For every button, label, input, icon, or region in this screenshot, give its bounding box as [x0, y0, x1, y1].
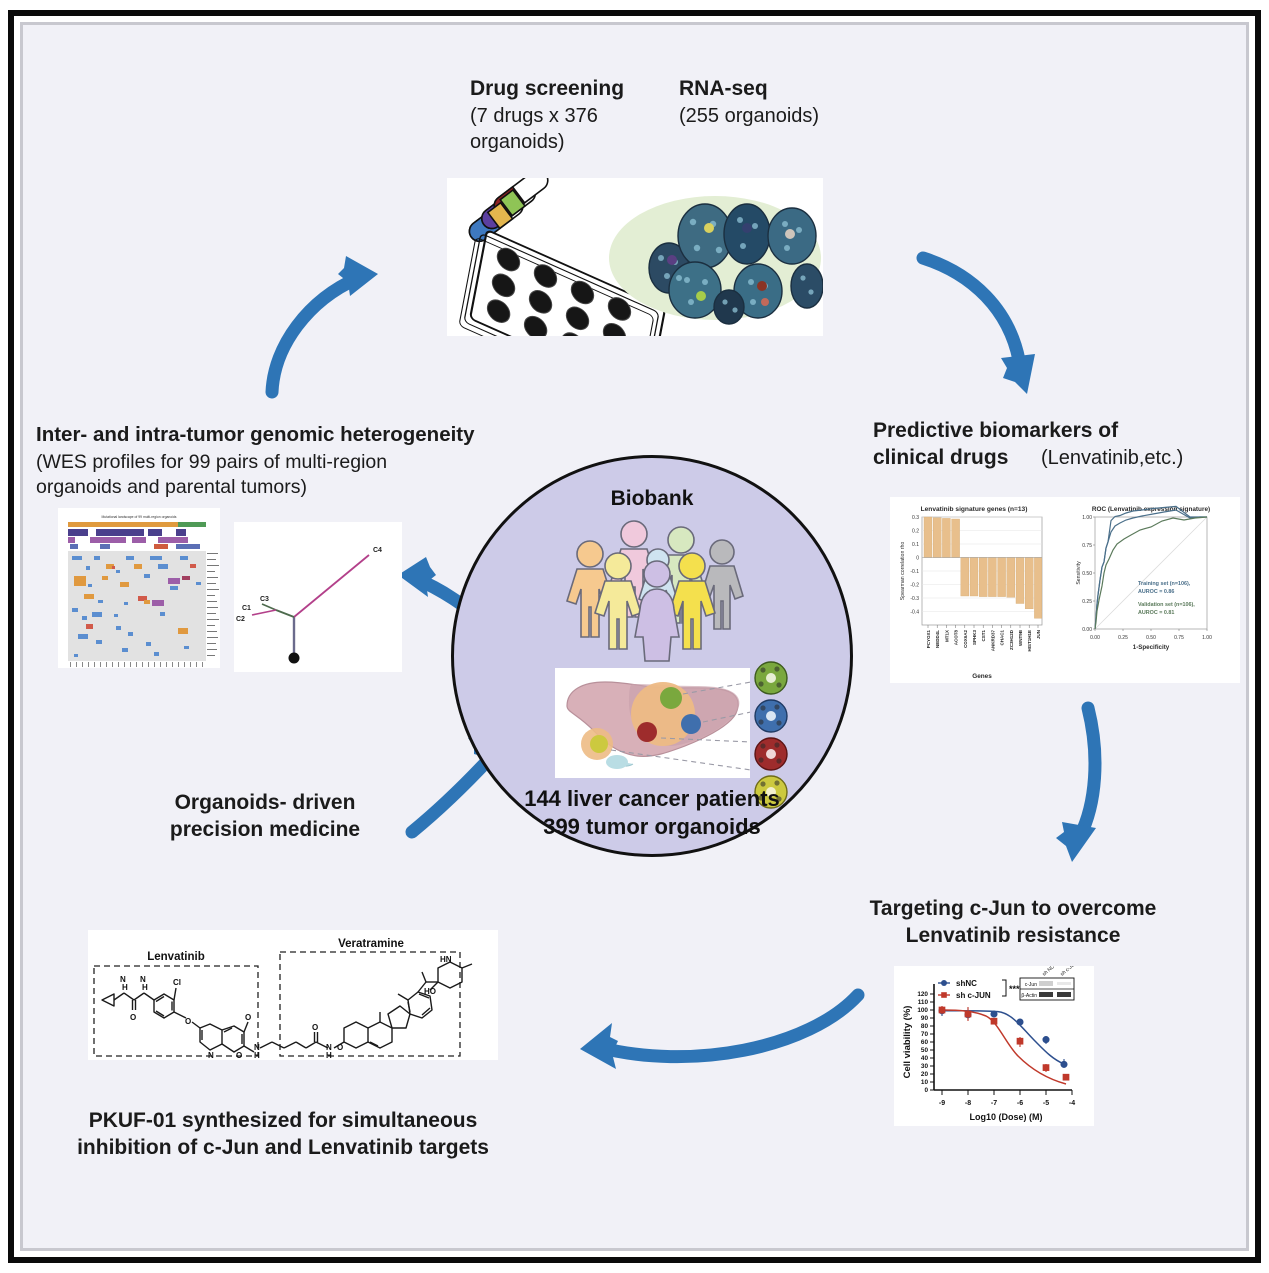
roc-annotation-training-line1: Training set (n=106),: [1138, 581, 1191, 587]
rnaseq-subtitle: (255 organoids): [679, 104, 899, 130]
svg-text:1.00: 1.00: [1202, 635, 1212, 641]
biomarker-charts-panel: Lenvatinib signature genes (n=13) 0.30.2…: [890, 497, 1240, 683]
arrow-to-drug-screening: [250, 250, 390, 400]
svg-text:30: 30: [921, 1063, 929, 1070]
gene-label: COX6A2: [963, 630, 968, 649]
svg-text:0.75: 0.75: [1082, 543, 1092, 549]
dose-response-chart: 01020 304050 607080 90100110 120 -9 -8 -…: [894, 966, 1094, 1126]
svg-text:0: 0: [924, 1087, 928, 1094]
biomarker-charts: Lenvatinib signature genes (n=13) 0.30.2…: [890, 497, 1240, 683]
dose-response-panel: 01020 304050 607080 90100110 120 -9 -8 -…: [894, 966, 1094, 1126]
phylo-node-c1: C1: [242, 605, 251, 612]
atom-ho: HO: [424, 987, 436, 996]
biobank-caption: 144 liver cancer patients 399 tumor orga…: [441, 785, 863, 840]
blot-row-actin: β-Actin: [1021, 993, 1037, 999]
atom-hn: HN: [440, 955, 452, 964]
blot-row-cjun: c-Jun: [1025, 982, 1037, 988]
svg-text:0.00: 0.00: [1090, 635, 1100, 641]
atom-o: O: [337, 1043, 343, 1052]
svg-text:60: 60: [921, 1039, 929, 1046]
veratramine-label: Veratramine: [338, 938, 404, 950]
atom-o: O: [236, 1051, 242, 1060]
gene-label: HIST1H1E: [1027, 630, 1032, 652]
biobank-title: Biobank: [451, 487, 853, 511]
heterogeneity-title: Inter- and intra-tumor genomic heterogen…: [36, 422, 556, 448]
phylo-node-c4: C4: [373, 547, 382, 554]
gene-label: WNT9B: [1018, 629, 1023, 646]
roc-chart-xlabel: 1-Specificity: [1133, 644, 1170, 651]
gene-label: ANKRD37: [990, 630, 995, 652]
svg-text:100: 100: [917, 1007, 928, 1014]
roc-annotation-validation-line1: Validation set (n=106),: [1138, 602, 1195, 608]
arrow-to-pkuf01: [540, 975, 880, 1085]
atom-h: H: [122, 983, 128, 992]
atom-h: H: [142, 983, 148, 992]
drug-screening-title: Drug screening: [470, 76, 690, 103]
atom-o: O: [312, 1023, 318, 1032]
svg-text:0.1: 0.1: [912, 542, 919, 548]
gene-label: JUN: [1036, 630, 1041, 639]
phylo-node-c2: C2: [236, 616, 245, 623]
liver-illustration: [555, 668, 750, 778]
svg-text:-0.4: -0.4: [910, 610, 919, 616]
legend-shcjun: sh c-JUN: [956, 991, 991, 1000]
phylo-node-c3: C3: [260, 596, 269, 603]
svg-text:0.25: 0.25: [1082, 599, 1092, 605]
roc-chart-title: ROC (Lenvatinib expression signature): [1092, 506, 1210, 513]
dose-ylabel: Cell viability (%): [902, 1006, 913, 1079]
svg-text:0.25: 0.25: [1118, 635, 1128, 641]
svg-text:-0.1: -0.1: [910, 569, 919, 575]
atom-cl: Cl: [173, 978, 181, 987]
x-tick: -4: [1069, 1100, 1075, 1107]
svg-text:-0.3: -0.3: [910, 596, 919, 602]
atom-n: N: [140, 975, 146, 984]
svg-text:1.00: 1.00: [1082, 515, 1092, 521]
pkuf01-chemical-structure: Lenvatinib Veratramine: [88, 930, 498, 1060]
gene-label: NEDD4L: [935, 630, 940, 648]
heterogeneity-subtitle: (WES profiles for 99 pairs of multi-regi…: [36, 450, 456, 500]
roc-annotation-training-line2: AUROC = 0.86: [1138, 589, 1174, 595]
svg-text:0.2: 0.2: [912, 529, 919, 535]
roc-chart-ylabel: Sensitivity: [1076, 561, 1082, 585]
x-tick: -9: [939, 1100, 945, 1107]
gene-label: PCYOX1: [926, 630, 931, 649]
svg-text:90: 90: [921, 1015, 929, 1022]
atom-o: O: [185, 1017, 191, 1026]
gene-label: ZC3H12D: [1009, 629, 1014, 650]
svg-text:50: 50: [921, 1047, 929, 1054]
svg-text:0.00: 0.00: [1082, 627, 1092, 633]
svg-text:40: 40: [921, 1055, 929, 1062]
atom-o: O: [245, 1013, 251, 1022]
phylogenetic-tree-panel: C4 C3 C1 C2: [234, 522, 402, 672]
roc-annotation-validation-line2: AUROC = 0.81: [1138, 610, 1174, 616]
rnaseq-title: RNA-seq: [679, 76, 879, 103]
biobank-caption-line2: 399 tumor organoids: [441, 813, 863, 841]
x-tick: -7: [991, 1100, 997, 1107]
bar-chart-xlabel: Genes: [972, 673, 992, 680]
svg-text:20: 20: [921, 1071, 929, 1078]
pkuf01-label: PKUF-01 synthesized for simultaneous inh…: [48, 1108, 518, 1162]
svg-text:0: 0: [916, 556, 919, 562]
atom-n: N: [208, 1051, 214, 1060]
arrow-to-biomarkers: [905, 248, 1050, 408]
drug-screening-illustration: [447, 178, 823, 336]
pkuf01-structure-panel: Lenvatinib Veratramine: [88, 930, 498, 1060]
biobank-caption-line1: 144 liver cancer patients: [441, 785, 863, 813]
atom-h: H: [326, 1051, 332, 1060]
x-tick: -5: [1043, 1100, 1049, 1107]
arrow-to-cjun-resistance: [1042, 700, 1142, 870]
lenvatinib-label: Lenvatinib: [147, 951, 205, 963]
phylogenetic-tree: C4 C3 C1 C2: [234, 522, 402, 672]
svg-text:110: 110: [918, 999, 929, 1006]
svg-text:10: 10: [921, 1079, 929, 1086]
drug-screening-subtitle: (7 drugs x 376 organoids): [470, 104, 645, 155]
x-tick: -6: [1017, 1100, 1023, 1107]
x-tick: -8: [965, 1100, 971, 1107]
svg-text:0.50: 0.50: [1146, 635, 1156, 641]
atom-o: O: [130, 1013, 136, 1022]
gene-label: SPHK3: [972, 630, 977, 646]
svg-text:70: 70: [921, 1031, 929, 1038]
svg-text:80: 80: [921, 1023, 929, 1030]
significance-stars: ***: [1009, 984, 1020, 994]
svg-text:0.50: 0.50: [1082, 571, 1092, 577]
gene-label: MT1X: [944, 630, 949, 642]
gene-label: CHAC1: [1000, 630, 1005, 646]
drug-screening-image-panel: [447, 178, 823, 336]
svg-text:0.75: 0.75: [1174, 635, 1184, 641]
graphical-abstract-page: Drug screening (7 drugs x 376 organoids)…: [0, 0, 1269, 1273]
dose-xlabel: Log10 (Dose) (M): [970, 1112, 1043, 1122]
svg-text:Mutational landscape of 99 mul: Mutational landscape of 99 multi-region …: [101, 515, 176, 519]
svg-text:-0.2: -0.2: [910, 583, 919, 589]
targeting-cjun-label: Targeting c-Jun to overcome Lenvatinib r…: [828, 896, 1198, 950]
bar-chart-ylabel: Spearman correlation rho: [900, 542, 906, 601]
patients-illustration: [550, 512, 760, 662]
legend-shnc: shNC: [956, 979, 977, 988]
atom-n: N: [120, 975, 126, 984]
precision-medicine-label: Organoids- driven precision medicine: [140, 790, 390, 844]
liver-illustration-panel: [555, 668, 750, 778]
oncoprint-heatmap: Mutational landscape of 99 multi-region …: [58, 508, 220, 668]
biomarkers-subtitle: (Lenvatinib,etc.): [1041, 446, 1261, 472]
svg-text:0.3: 0.3: [912, 515, 919, 521]
atom-h: H: [254, 1051, 260, 1060]
oncoprint-panel: Mutational landscape of 99 multi-region …: [58, 508, 220, 668]
gene-label: CST1: [981, 630, 986, 642]
svg-text:120: 120: [917, 991, 928, 998]
gene-label: ACOT8: [954, 630, 959, 646]
bar-chart-title: Lenvatinib signature genes (n=13): [921, 506, 1028, 513]
